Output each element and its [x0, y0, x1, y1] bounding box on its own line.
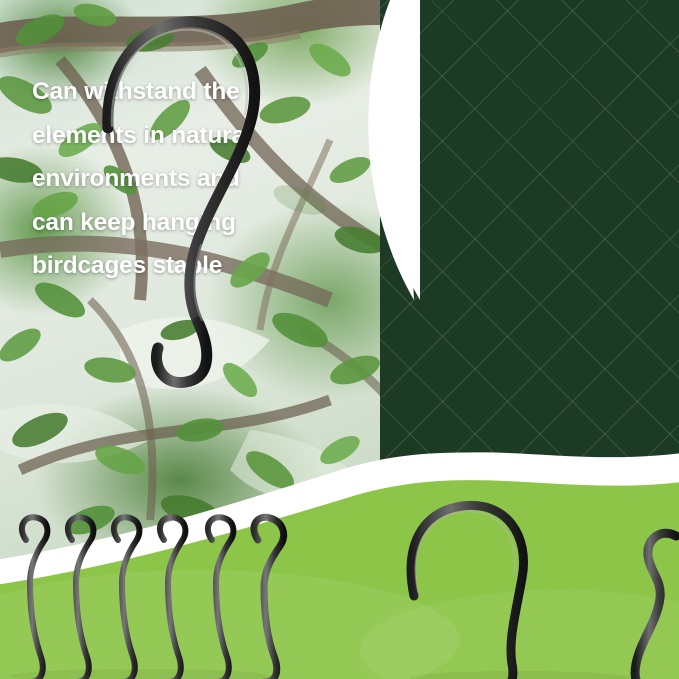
s-hook-item — [160, 517, 185, 679]
s-hook-item — [114, 517, 139, 679]
s-hook-item — [208, 517, 233, 679]
hero-s-hook — [108, 22, 255, 383]
s-hook-item — [254, 517, 284, 679]
product-infographic: Can withstand the elements in natural en… — [0, 0, 679, 679]
s-hook-item — [22, 517, 47, 679]
s-hook-illustrations — [0, 0, 679, 679]
s-hook-item — [68, 517, 93, 679]
s-hook-group-left — [10, 517, 284, 679]
s-hook-group-right — [410, 505, 676, 679]
